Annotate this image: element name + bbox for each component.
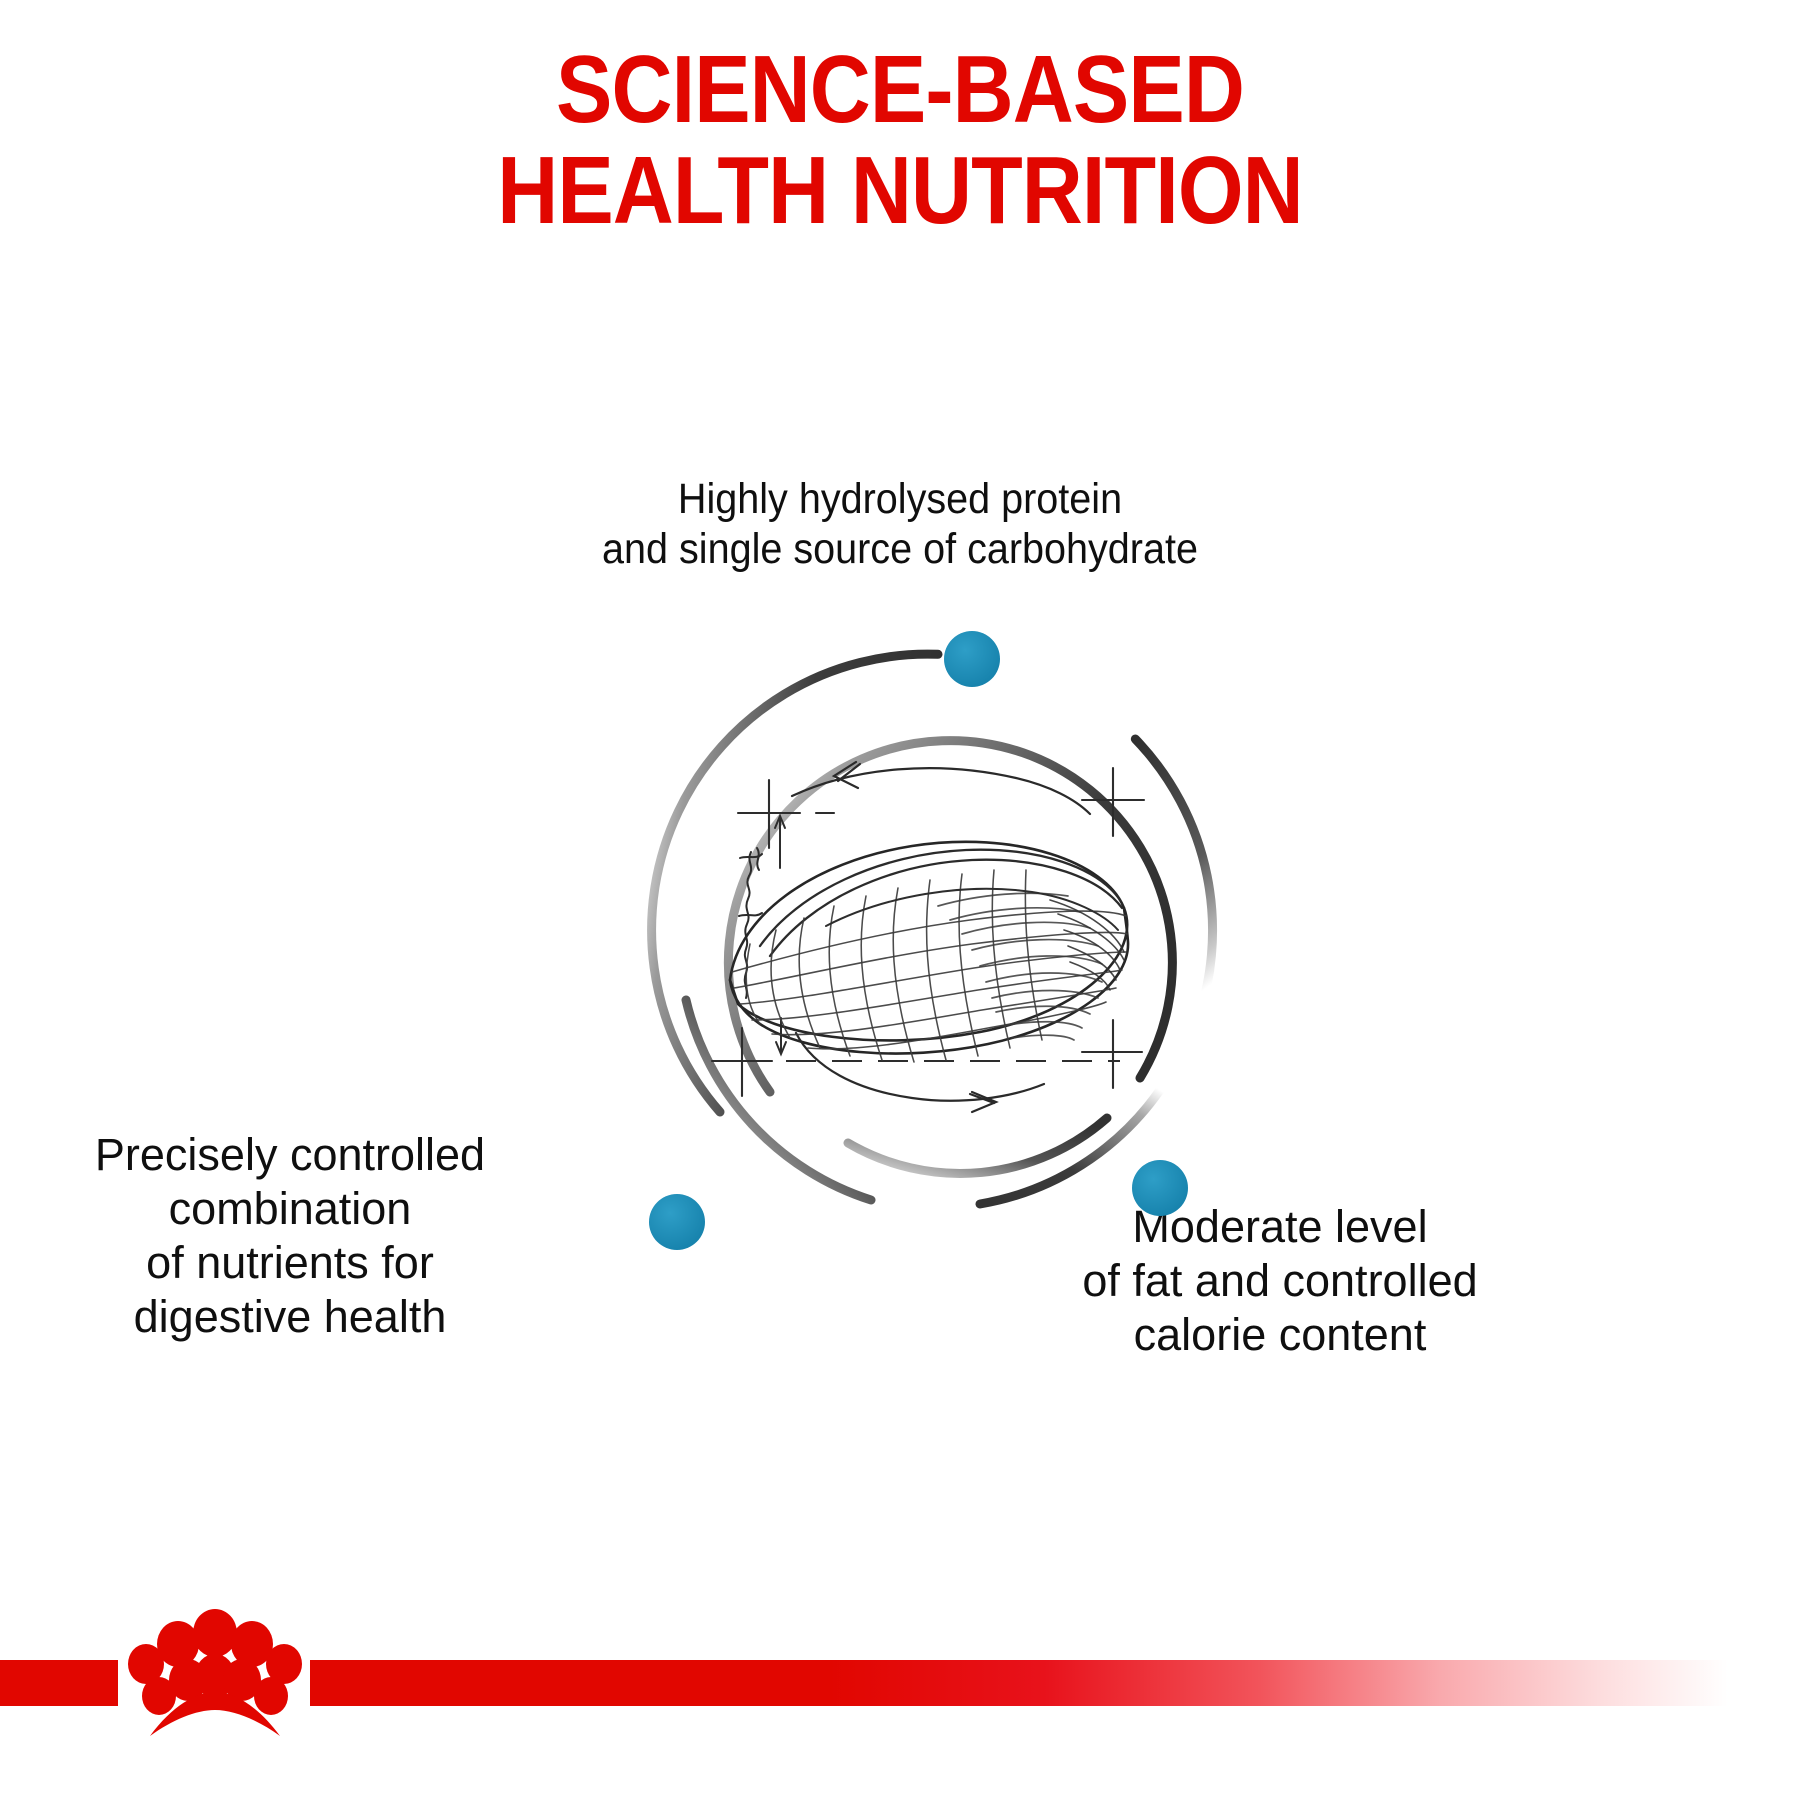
page-title-line-1: SCIENCE-BASED (108, 40, 1692, 141)
kibble-shading (938, 893, 1102, 1040)
outer-ring (652, 654, 1213, 1204)
royal-canin-crown-logo (110, 1588, 320, 1788)
callout-text-top: Highly hydrolysed protein and single sou… (72, 474, 1728, 575)
node-dot-bottom-right[interactable] (1132, 1160, 1188, 1216)
page-title: SCIENCE-BASED HEALTH NUTRITION (108, 40, 1692, 242)
handwritten-annotation (739, 848, 762, 998)
kibble-sketch (712, 762, 1144, 1112)
kibble-diagram (620, 600, 1280, 1260)
footer (0, 1570, 1800, 1800)
page-title-line-2: HEALTH NUTRITION (108, 141, 1692, 242)
node-dot-bottom-left[interactable] (649, 1194, 705, 1250)
node-dot-top[interactable] (944, 631, 1000, 687)
callout-text-left: Precisely controlled combination of nutr… (30, 1128, 550, 1344)
flow-arrow-bottom (796, 1033, 1044, 1112)
inner-ring-arc-2 (848, 1118, 1107, 1173)
inner-ring (728, 741, 1172, 1174)
poster-canvas: SCIENCE-BASED HEALTH NUTRITION Highly hy… (0, 0, 1800, 1800)
kibble-mesh-transverse (746, 870, 1042, 1062)
